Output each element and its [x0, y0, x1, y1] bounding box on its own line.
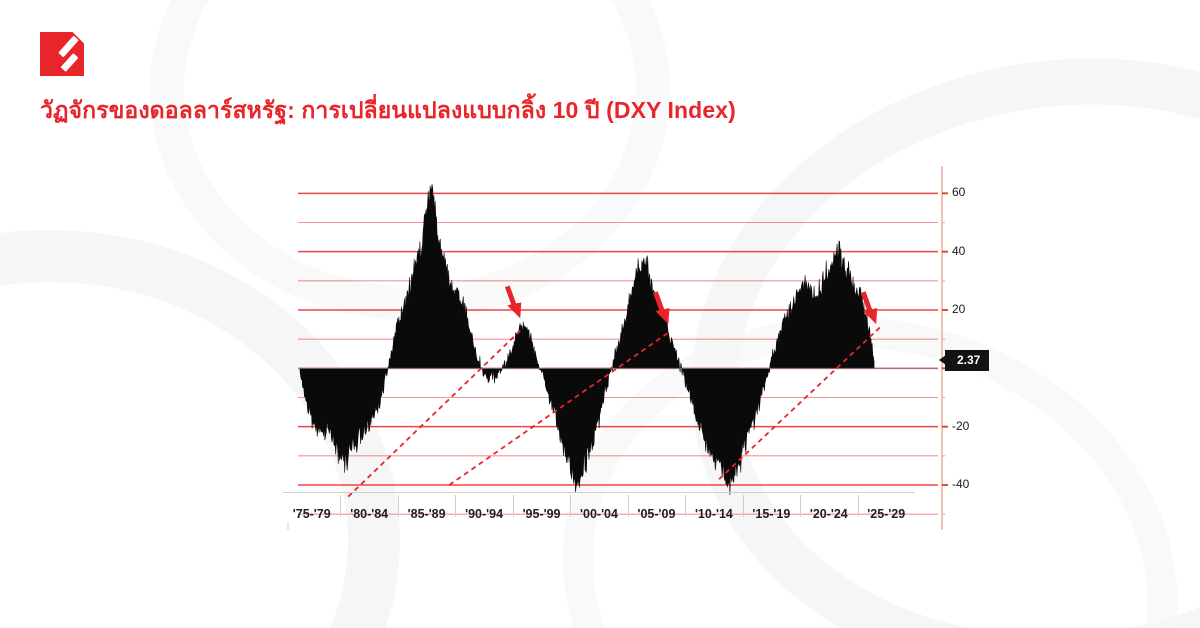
brand-logo-icon — [40, 32, 84, 76]
x-axis-tick-label: '90-'94 — [455, 493, 512, 528]
x-axis-tick-label: '05-'09 — [628, 493, 685, 528]
current-value-badge: 2.37 — [945, 350, 989, 371]
chart-area — [280, 160, 980, 540]
y-axis-tick-label: 60 — [952, 185, 965, 199]
x-axis: '75-'79'80-'84'85-'89'90-'94'95-'99'00-'… — [283, 492, 915, 528]
x-axis-tick-label: '75-'79 — [283, 493, 340, 528]
x-axis-tick-label: '00-'04 — [570, 493, 627, 528]
logo-slash-upper — [58, 36, 79, 58]
x-axis-tick-label: '15-'19 — [743, 493, 800, 528]
header: วัฏจักรของดอลลาร์สหรัฐ: การเปลี่ยนแปลงแบ… — [40, 32, 1160, 126]
x-axis-tick-label: '80-'84 — [340, 493, 397, 528]
x-axis-tick-label: '10-'14 — [685, 493, 742, 528]
y-axis-tick-label: 40 — [952, 244, 965, 258]
x-axis-tick-label: '85-'89 — [398, 493, 455, 528]
x-axis-tick-cells: '75-'79'80-'84'85-'89'90-'94'95-'99'00-'… — [283, 493, 915, 528]
annotation-arrow — [507, 286, 521, 318]
x-axis-tick-label: '95-'99 — [513, 493, 570, 528]
y-axis-tick-label: -20 — [952, 419, 969, 433]
page-title: วัฏจักรของดอลลาร์สหรัฐ: การเปลี่ยนแปลงแบ… — [40, 96, 1160, 126]
y-axis-tick-label: -40 — [952, 477, 969, 491]
x-axis-tick-label: '20-'24 — [800, 493, 857, 528]
poster-canvas: วัฏจักรของดอลลาร์สหรัฐ: การเปลี่ยนแปลงแบ… — [0, 0, 1200, 628]
x-axis-tick-label: '25-'29 — [858, 493, 915, 528]
dxy-rolling-change-chart — [280, 160, 980, 540]
y-axis-tick-label: 20 — [952, 302, 965, 316]
